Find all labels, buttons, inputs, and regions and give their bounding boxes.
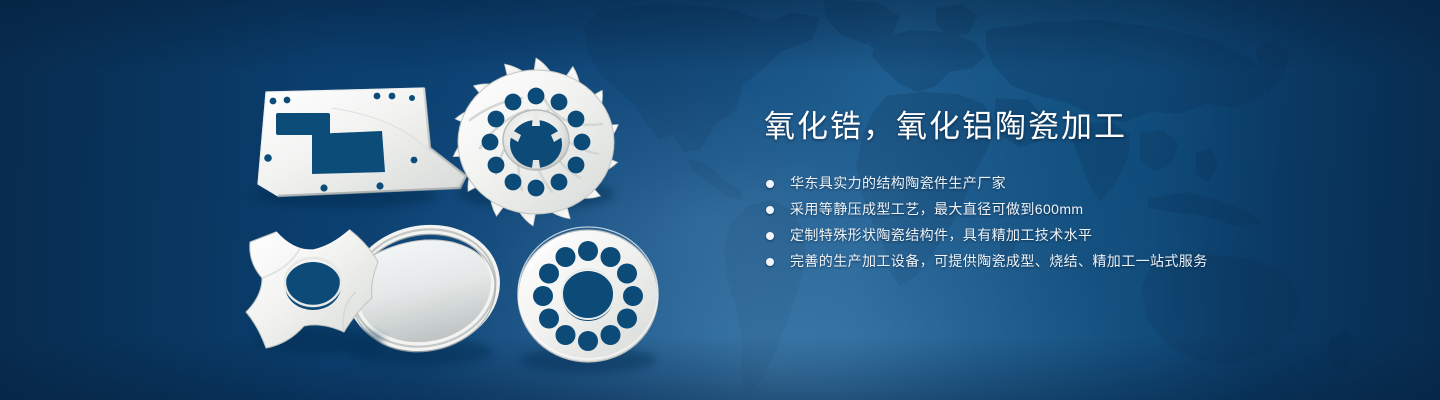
ceramic-holed-disc	[518, 227, 658, 373]
list-item: 定制特殊形状陶瓷结构件，具有精加工技术水平	[764, 227, 1384, 244]
hero-banner: 氧化锆，氧化铝陶瓷加工 华东具实力的结构陶瓷件生产厂家 采用等静压成型工艺，最大…	[0, 0, 1440, 400]
product-photo-cluster	[0, 0, 700, 400]
list-item: 采用等静压成型工艺，最大直径可做到600mm	[764, 201, 1384, 218]
list-item-label: 完善的生产加工设备，可提供陶瓷成型、烧结、精加工一站式服务	[790, 253, 1208, 269]
feature-list: 华东具实力的结构陶瓷件生产厂家 采用等静压成型工艺，最大直径可做到600mm 定…	[764, 175, 1384, 270]
list-item-label: 采用等静压成型工艺，最大直径可做到600mm	[790, 201, 1083, 217]
list-item-label: 定制特殊形状陶瓷结构件，具有精加工技术水平	[790, 227, 1092, 243]
ceramic-impeller	[449, 56, 622, 228]
bullet-dot-icon	[766, 206, 774, 214]
bullet-dot-icon	[766, 232, 774, 240]
list-item: 华东具实力的结构陶瓷件生产厂家	[764, 175, 1384, 192]
bullet-dot-icon	[766, 180, 774, 188]
ceramic-cross-part	[246, 230, 384, 354]
headline: 氧化锆，氧化铝陶瓷加工	[764, 108, 1384, 147]
ceramic-plate	[253, 88, 466, 208]
list-item: 完善的生产加工设备，可提供陶瓷成型、烧结、精加工一站式服务	[764, 253, 1384, 270]
list-item-label: 华东具实力的结构陶瓷件生产厂家	[790, 175, 1006, 191]
bullet-dot-icon	[766, 258, 774, 266]
copy-block: 氧化锆，氧化铝陶瓷加工 华东具实力的结构陶瓷件生产厂家 采用等静压成型工艺，最大…	[764, 108, 1384, 279]
